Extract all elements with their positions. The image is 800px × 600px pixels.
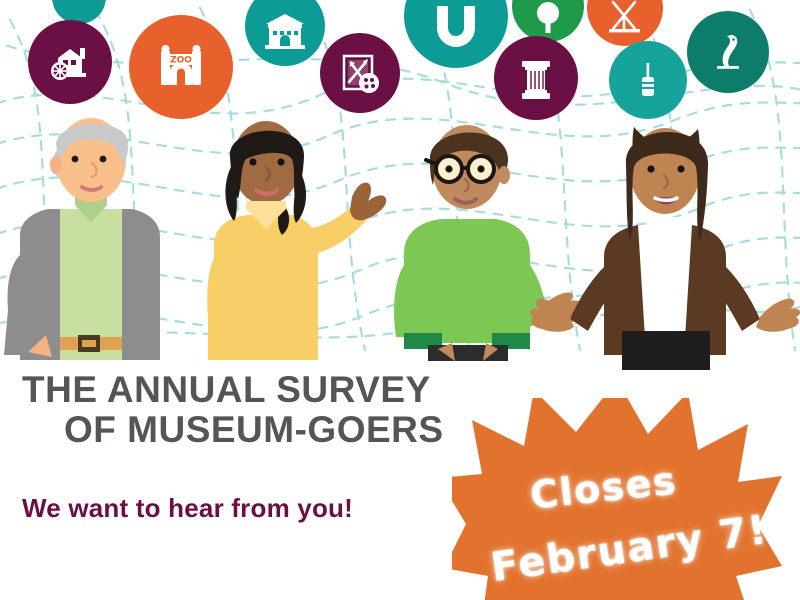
icon-circle-wildlife-center (687, 11, 769, 93)
headline-line-1: THE ANNUAL SURVEY (22, 370, 470, 410)
bird-wildlife-icon (705, 29, 751, 75)
icon-circle-art-palette (320, 33, 400, 113)
museum-building-icon (261, 7, 309, 55)
person-woman-yellow (207, 121, 386, 360)
icon-circle-nature-center (512, 0, 584, 42)
science-magnet-icon (427, 0, 485, 58)
icon-circle-museum-building (245, 0, 325, 66)
historic-house-icon (44, 36, 96, 88)
icon-circle-art-center (587, 0, 663, 46)
deadline-badge: Closes February 7! (452, 398, 782, 600)
starburst-shape (452, 398, 782, 600)
icon-circle-zoo: ZOO (129, 15, 233, 119)
subheadline: We want to hear from you! (22, 493, 470, 524)
easel-art-icon (603, 0, 647, 40)
zoo-label: ZOO (170, 56, 192, 66)
zoo-gate-icon: ZOO (149, 35, 213, 99)
person-older-man (4, 118, 160, 360)
people-illustration (0, 105, 800, 370)
art-palette-icon (335, 48, 385, 98)
tree-nature-icon (528, 0, 568, 37)
text-block: THE ANNUAL SURVEY OF MUSEUM-GOERS We wan… (0, 370, 470, 524)
page-title: THE ANNUAL SURVEY OF MUSEUM-GOERS (22, 370, 470, 449)
person-woman-jacket (530, 127, 800, 370)
icon-circle-historic-house (28, 20, 112, 104)
lighthouse-icon (626, 58, 670, 102)
headline-line-2: OF MUSEUM-GOERS (22, 410, 470, 450)
survey-poster: ZOO (0, 0, 800, 600)
icon-circle-science-center (404, 0, 508, 68)
column-history-icon (512, 54, 560, 102)
